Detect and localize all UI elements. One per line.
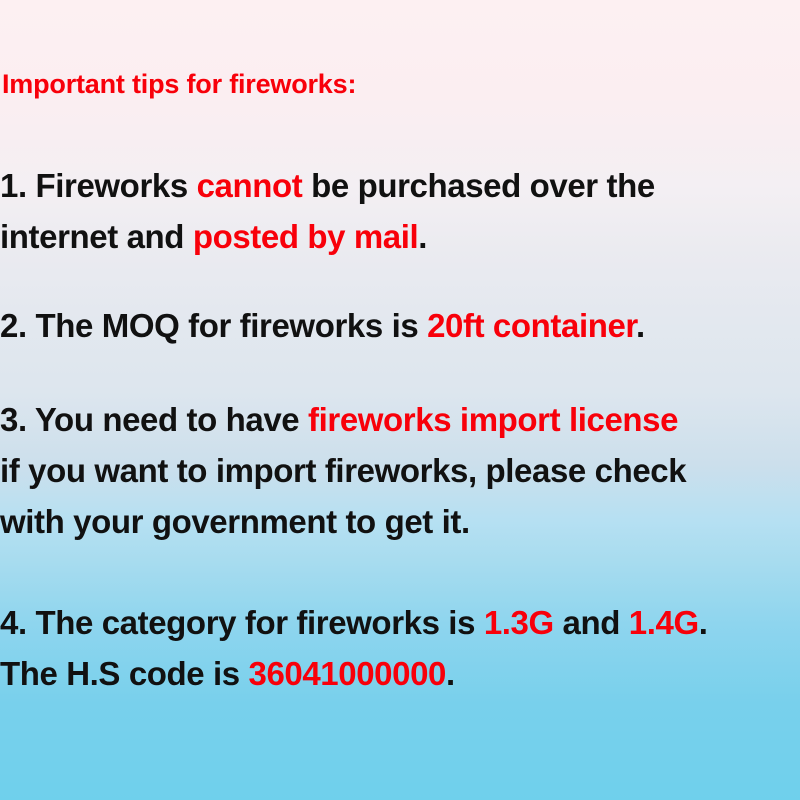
tip-text-highlight: 20ft container [427,307,636,344]
tip-text-highlight: cannot [197,167,303,204]
tip-line: if you want to import fireworks, please … [0,445,768,496]
fireworks-tips-poster: Important tips for fireworks: 1. Firewor… [0,0,800,800]
tip-text: . [636,307,645,344]
tip-line: 1. Fireworks cannot be purchased over th… [0,160,768,211]
tip-item-2: 2. The MOQ for fireworks is 20ft contain… [0,300,768,351]
tip-text: . [699,604,708,641]
tip-text-highlight: fireworks import license [308,401,678,438]
tip-text: internet and [0,218,193,255]
tip-line: 3. You need to have fireworks import lic… [0,394,768,445]
tip-text-highlight: posted by mail [193,218,418,255]
tip-text: The H.S code is [0,655,249,692]
tip-item-4: 4. The category for fireworks is 1.3G an… [0,597,768,699]
tip-text: if you want to import fireworks, please … [0,452,686,489]
tip-text: . [418,218,427,255]
tip-text: and [554,604,629,641]
tip-text-highlight: 1.3G [484,604,554,641]
tip-text: 1. Fireworks [0,167,197,204]
tip-line: 2. The MOQ for fireworks is 20ft contain… [0,300,768,351]
tip-text: 4. The category for fireworks is [0,604,484,641]
tip-item-1: 1. Fireworks cannot be purchased over th… [0,160,768,262]
tip-line: The H.S code is 36041000000. [0,648,768,699]
tip-line: internet and posted by mail. [0,211,768,262]
tip-text: with your government to get it. [0,503,470,540]
tip-text: be purchased over the [302,167,654,204]
tip-line: with your government to get it. [0,496,768,547]
tip-text-highlight: 1.4G [629,604,699,641]
tip-text: . [446,655,455,692]
tip-item-3: 3. You need to have fireworks import lic… [0,394,768,547]
tip-line: 4. The category for fireworks is 1.3G an… [0,597,768,648]
tip-text: 3. You need to have [0,401,308,438]
tip-text: 2. The MOQ for fireworks is [0,307,427,344]
tip-text-highlight: 36041000000 [249,655,446,692]
page-title: Important tips for fireworks: [2,71,356,98]
